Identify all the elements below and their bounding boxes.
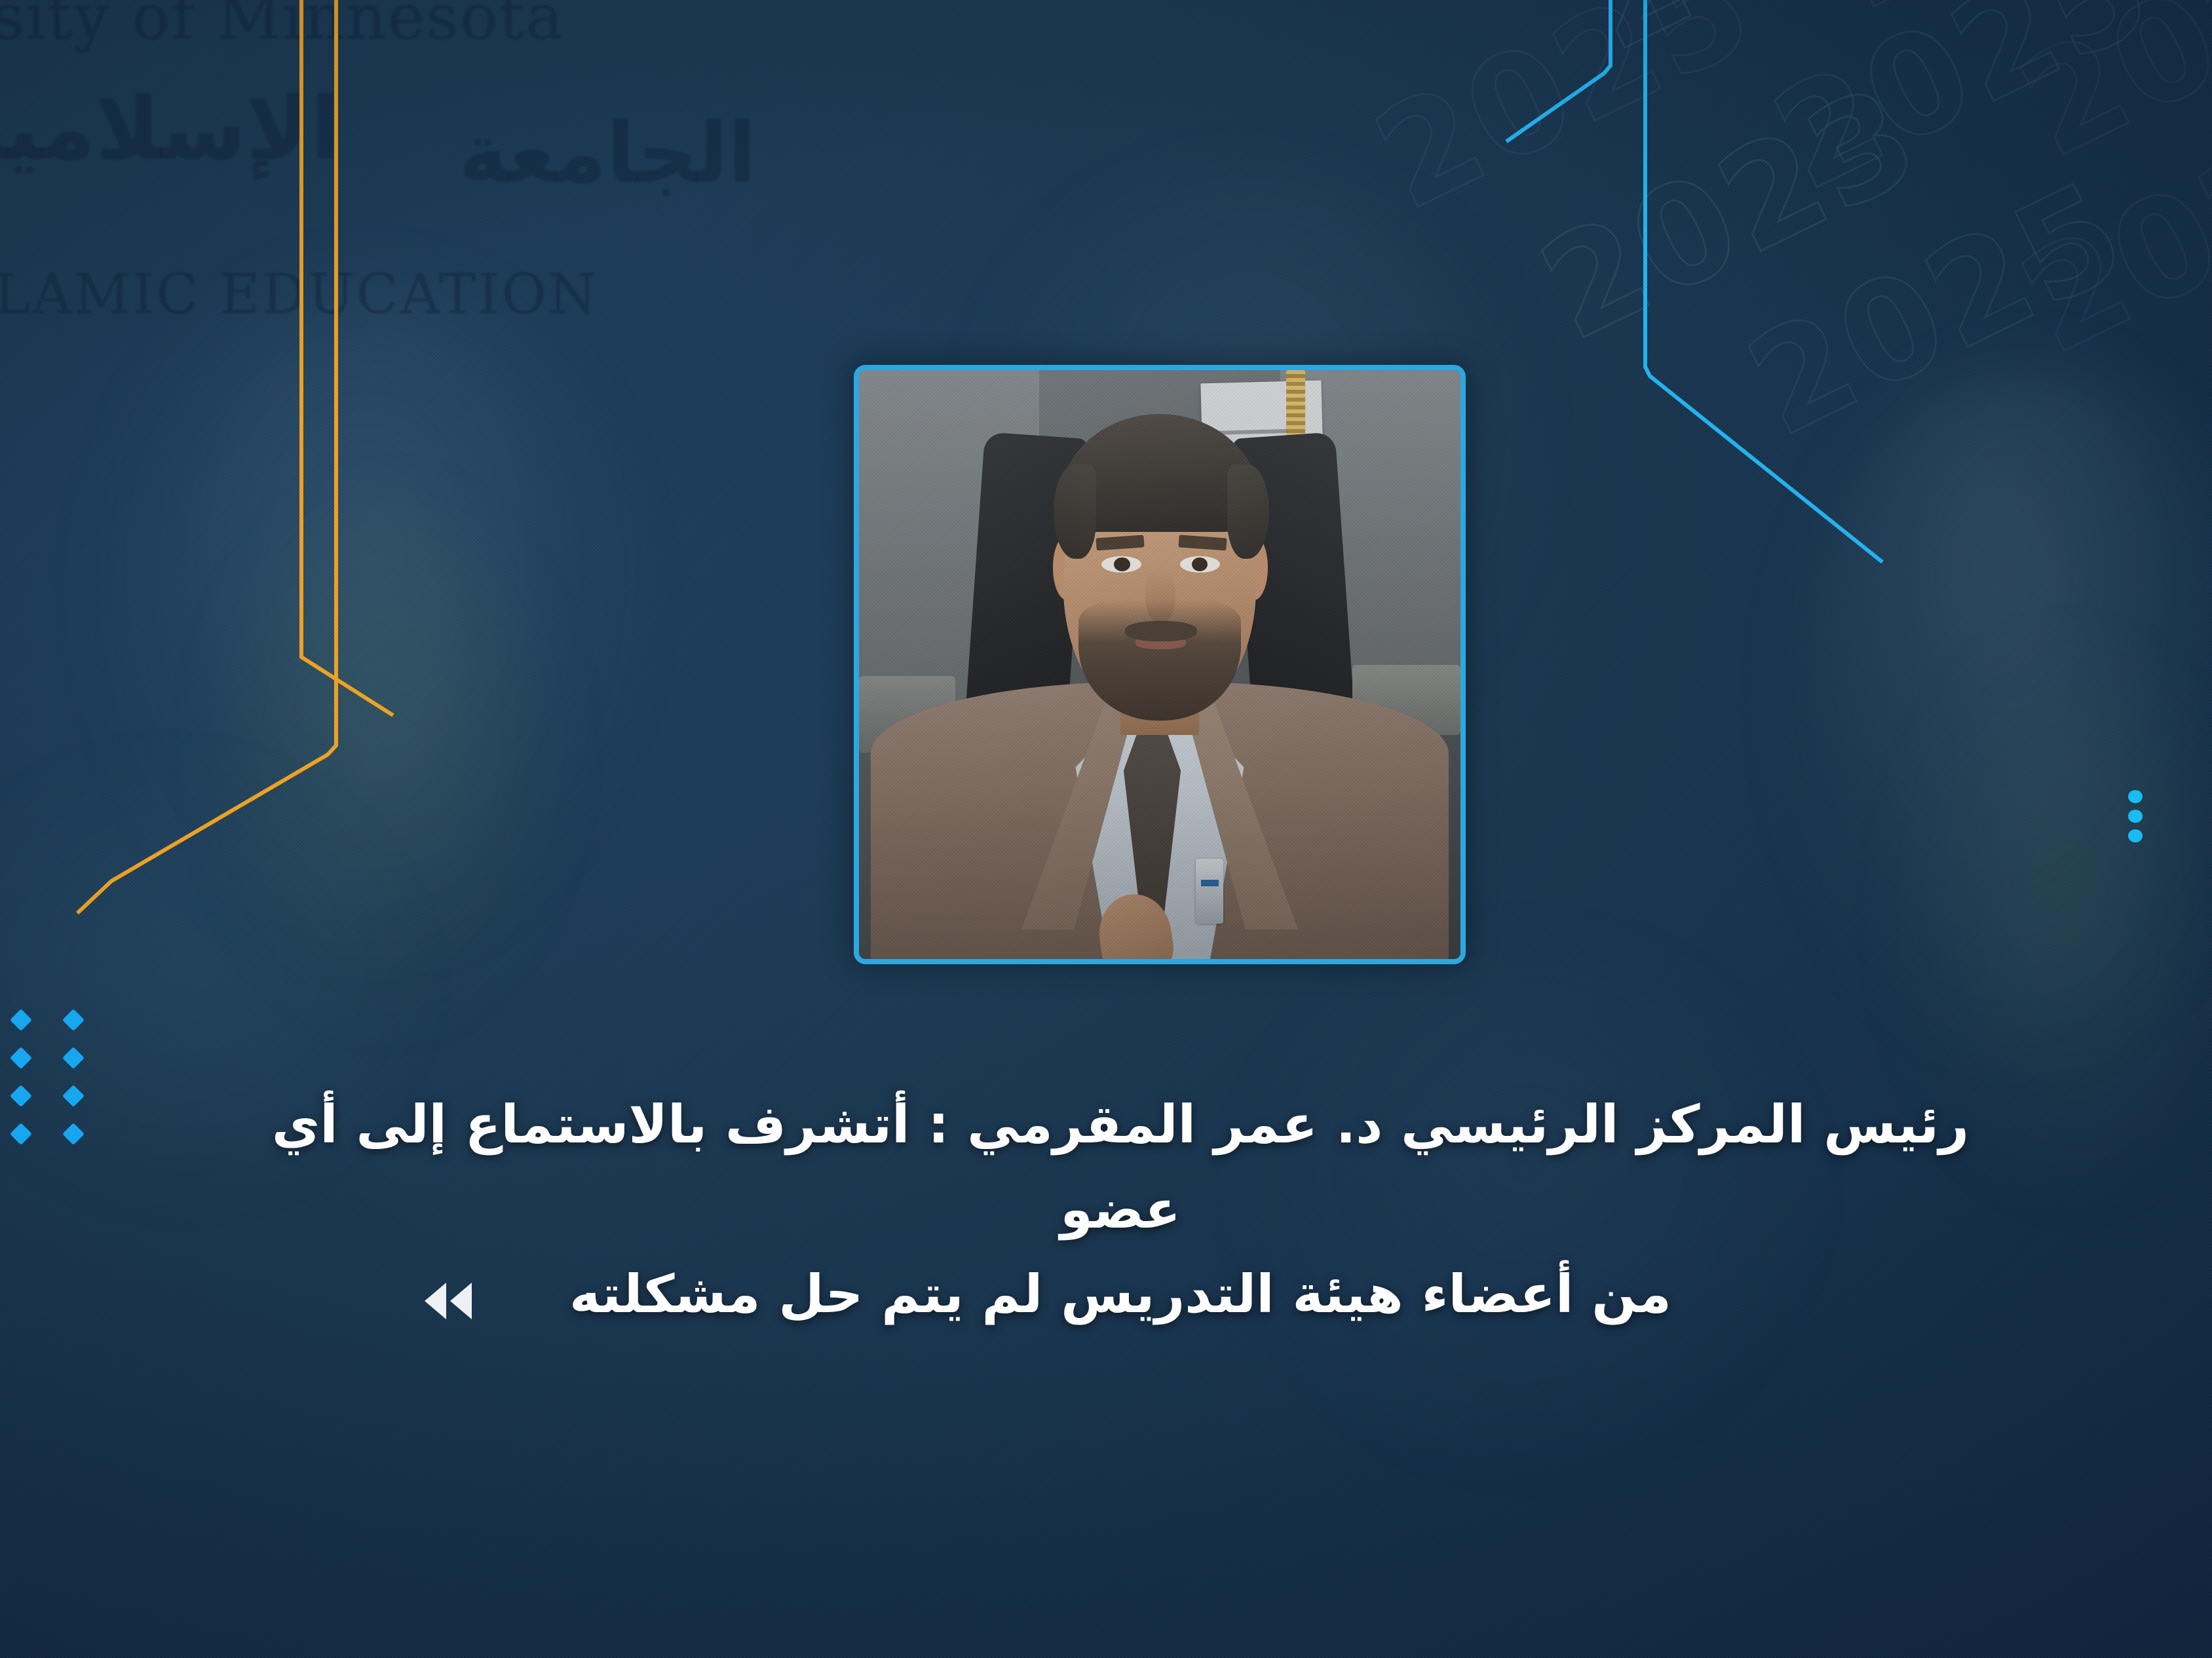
news-card: rsity of Minnesota الإسلامية الجامعة SLA… xyxy=(0,0,2212,1658)
rewind-icon[interactable] xyxy=(423,1281,474,1321)
headline: رئيس المركز الرئيسي د. عمر المقرمي : أتش… xyxy=(216,1082,2025,1337)
round-dots-decoration xyxy=(2128,790,2143,842)
portrait-photo xyxy=(859,370,1460,959)
headline-line-1: رئيس المركز الرئيسي د. عمر المقرمي : أتش… xyxy=(216,1082,2025,1252)
headline-line-2: من أعضاء هيئة التدريس لم يتم حل مشكلته xyxy=(216,1252,2025,1337)
diamond-dots-decoration xyxy=(13,1012,96,1156)
portrait-frame xyxy=(854,365,1466,964)
